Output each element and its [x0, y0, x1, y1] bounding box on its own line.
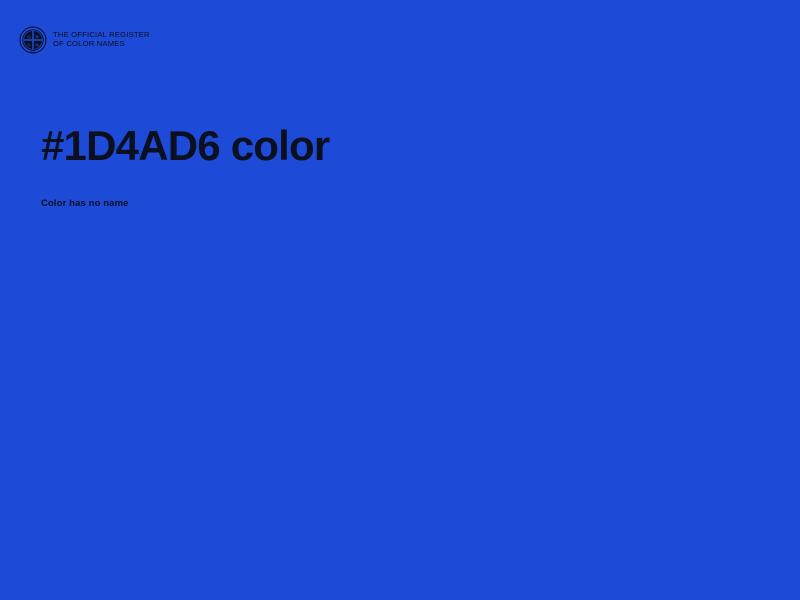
color-swatch-page: O R C N EST THE OFFICIAL REGISTER OF COL… [0, 0, 800, 600]
brand-header[interactable]: O R C N EST THE OFFICIAL REGISTER OF COL… [19, 26, 150, 54]
color-info-block: #1D4AD6 color Color has no name [41, 124, 741, 169]
page-title: #1D4AD6 color [41, 124, 741, 169]
svg-text:O: O [27, 34, 31, 39]
color-name-label: Color has no name [41, 198, 129, 209]
svg-text:EST: EST [30, 50, 35, 54]
color-swatch-background [0, 0, 800, 600]
brand-line-2: OF COLOR NAMES [53, 40, 150, 49]
brand-wordmark: THE OFFICIAL REGISTER OF COLOR NAMES [53, 31, 150, 49]
register-seal-icon: O R C N EST [19, 26, 47, 54]
